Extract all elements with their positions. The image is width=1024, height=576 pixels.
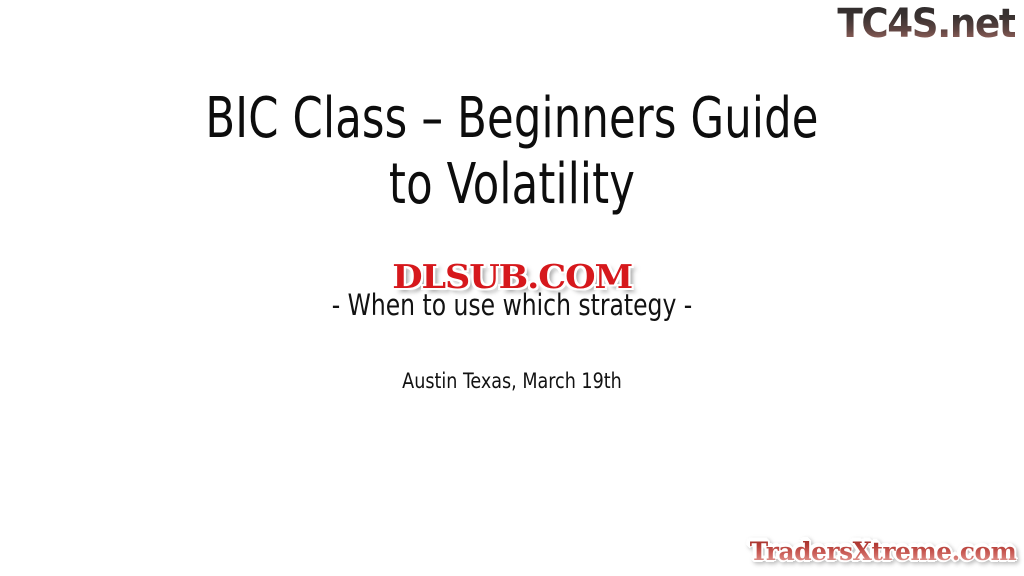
title-line-2: to Volatility [72, 152, 953, 218]
slide-title: BIC Class – Beginners Guide to Volatilit… [0, 86, 1024, 218]
tc4s-brand-logo: TC4S.net [837, 2, 1015, 46]
tradersxtreme-brand-logo: TradersXtreme.com [749, 538, 1016, 566]
slide-event-line: Austin Texas, March 19th [36, 368, 988, 395]
presentation-slide: TC4S.net BIC Class – Beginners Guide to … [0, 0, 1024, 576]
slide-subtitle: - When to use which strategy - [51, 288, 973, 322]
title-line-1: BIC Class – Beginners Guide [72, 86, 953, 152]
